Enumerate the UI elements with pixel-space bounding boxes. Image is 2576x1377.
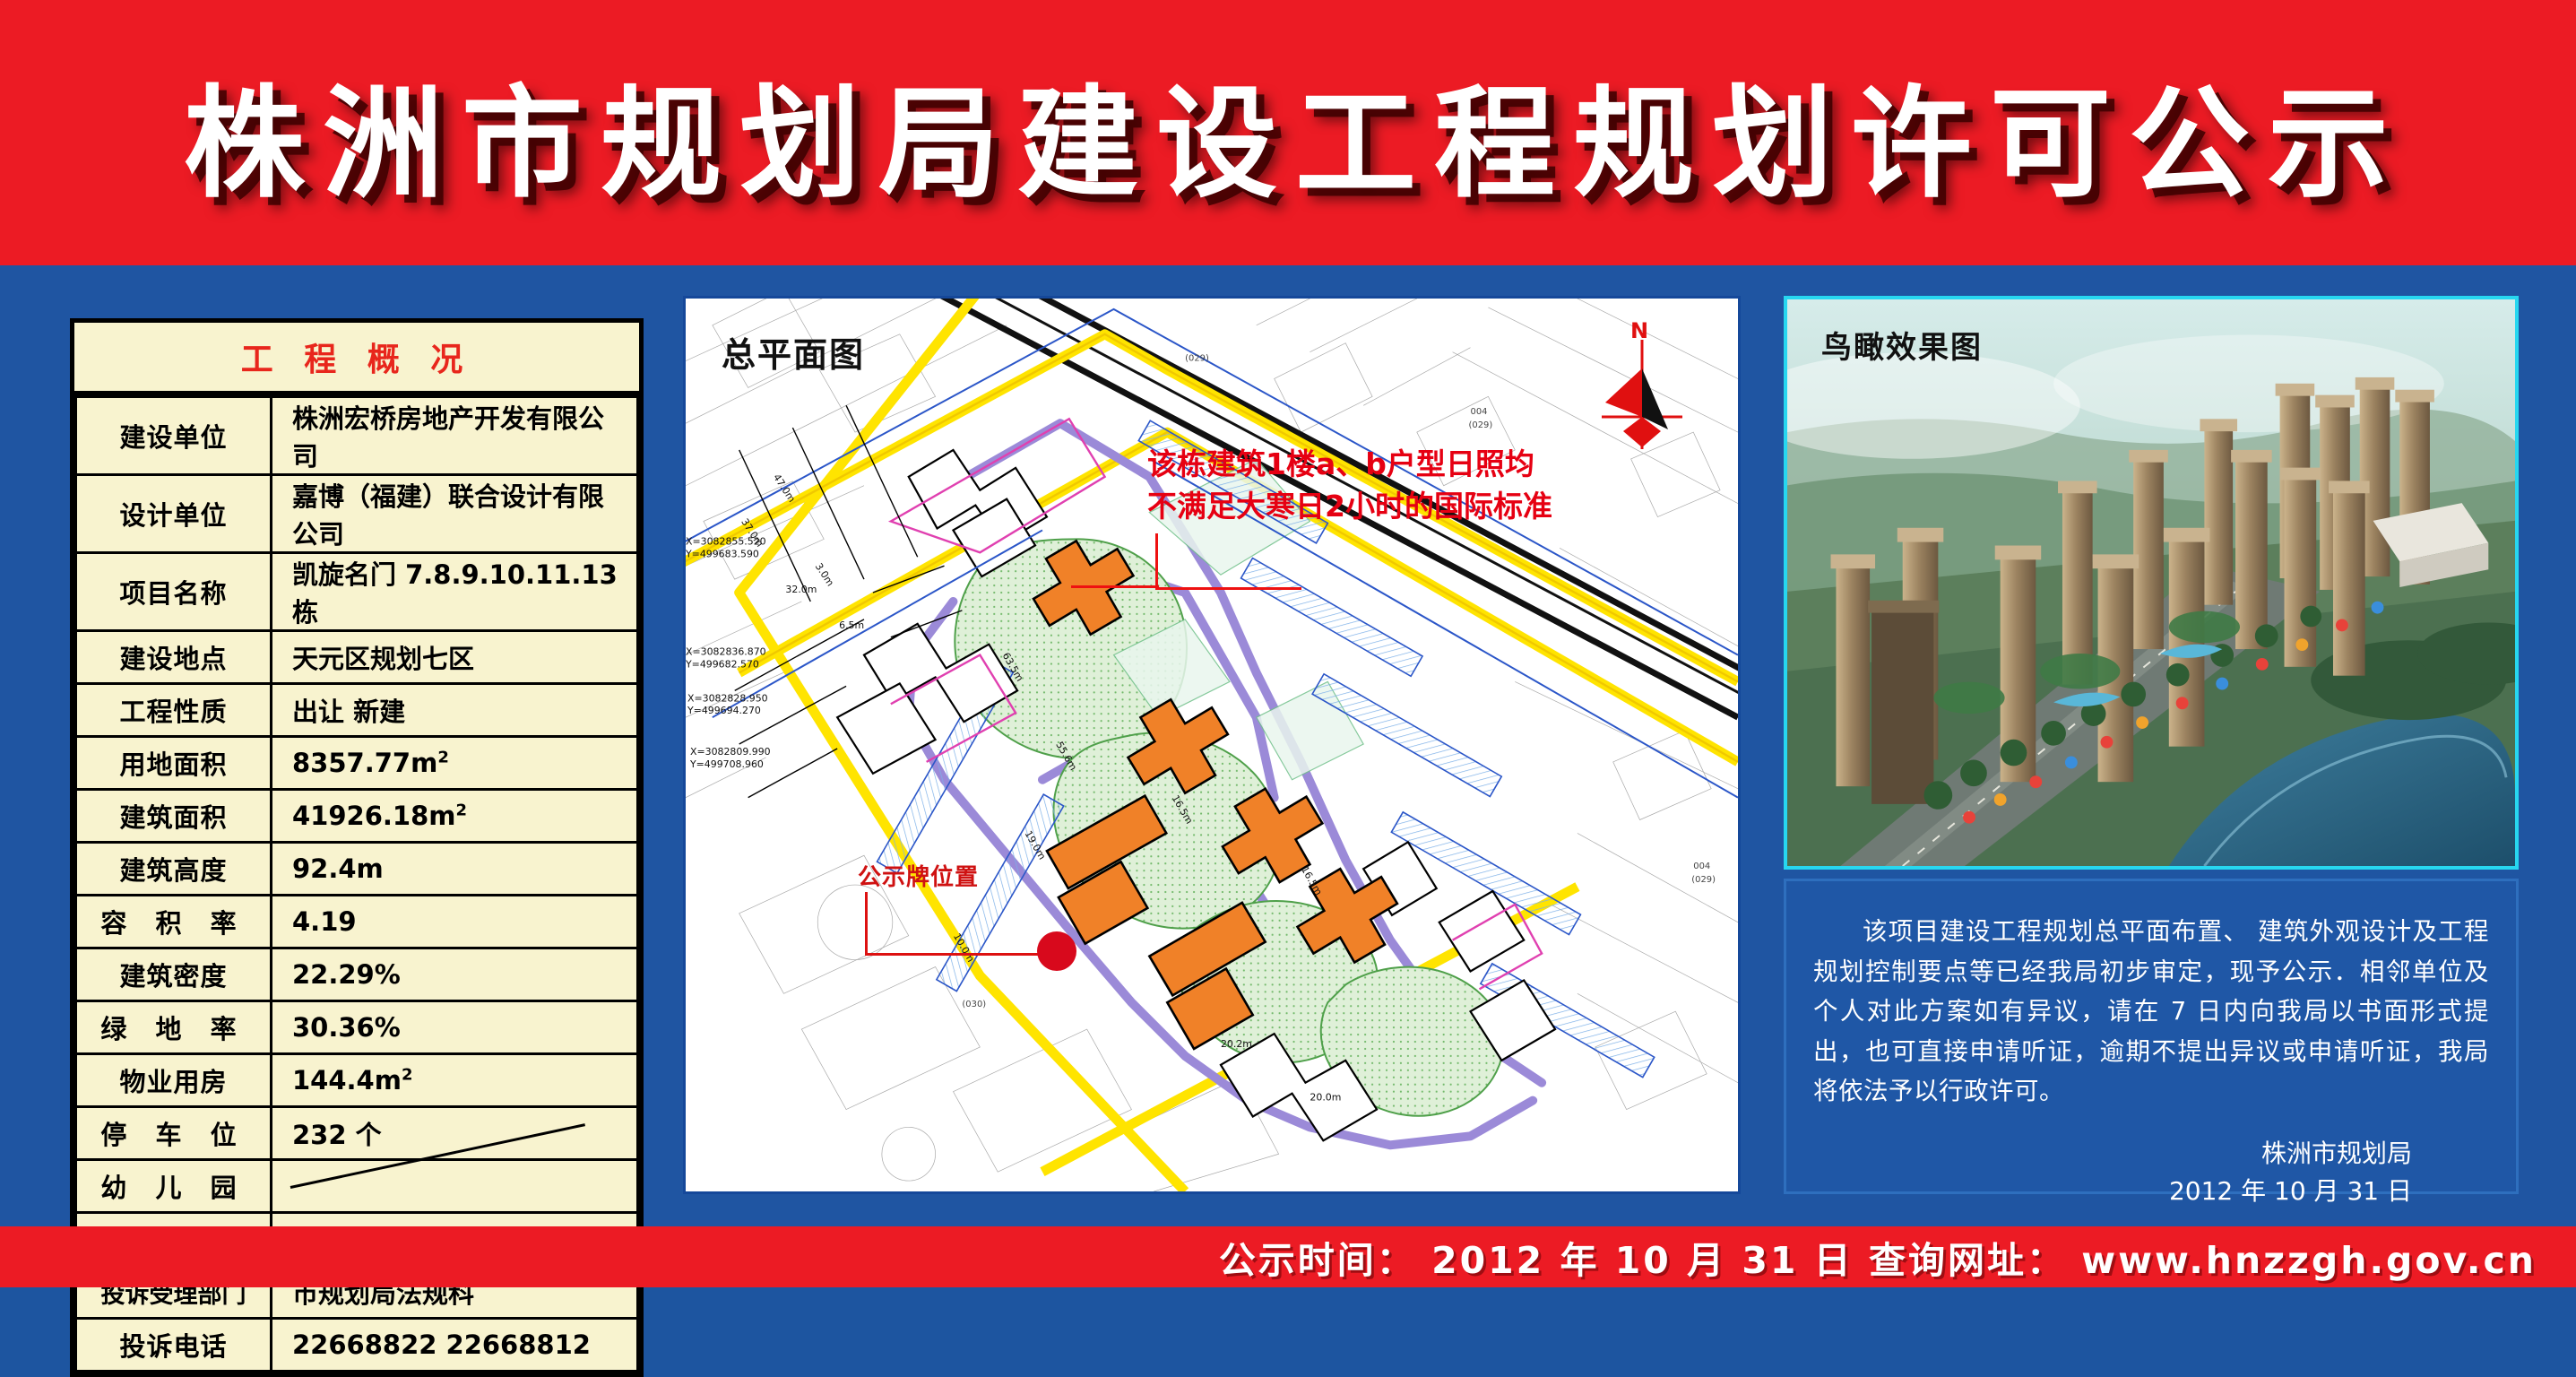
svg-text:X=3082809.990: X=3082809.990 (690, 746, 771, 758)
info-row-label: 幼 儿 园 (76, 1160, 272, 1213)
table-row: 工程性质出让 新建 (76, 684, 638, 737)
table-row: 建设地点天元区规划七区 (76, 631, 638, 684)
info-row-value: 41926.18m2 (272, 790, 638, 843)
info-row-value-text: 株洲宏桥房地产开发有限公司 (292, 403, 604, 472)
info-row-value: 天元区规划七区 (272, 631, 638, 684)
unit-superscript: 2 (455, 801, 467, 819)
public-notice-signature-block: 株洲市规划局 2012 年 10 月 31 日 (1813, 1135, 2489, 1210)
svg-text:6.5m: 6.5m (839, 619, 864, 631)
table-row: 项目名称凯旋名门 7.8.9.10.11.13 栋 (76, 553, 638, 631)
info-row-label: 建筑密度 (76, 948, 272, 1001)
header-banner: 株洲市规划局建设工程规划许可公示 (0, 0, 2576, 265)
info-row-value: 22.29% (272, 948, 638, 1001)
sign-location-label: 公示牌位置 (858, 859, 979, 892)
table-row: 容 积 率4.19 (76, 896, 638, 948)
info-row-value-text: 30.36% (292, 1012, 401, 1043)
info-row-label: 建筑高度 (76, 843, 272, 896)
project-summary-title: 工 程 概 况 (241, 333, 473, 380)
info-row-label: 物业用房 (76, 1054, 272, 1107)
table-row: 物业用房144.4m2 (76, 1054, 638, 1107)
table-row: 建筑密度22.29% (76, 948, 638, 1001)
info-row-value: 4.19 (272, 896, 638, 948)
sunlight-warning-note: 该栋建筑1楼a、b户型日照均 不满足大寒日2小时的国际标准 (1147, 444, 1552, 528)
svg-text:(029): (029) (1469, 420, 1493, 430)
site-plan-label: 总平面图 (722, 327, 865, 377)
aerial-rendering-label: 鸟瞰效果图 (1821, 323, 1983, 367)
info-row-label: 停 车 位 (76, 1107, 272, 1160)
info-row-value-text: 天元区规划七区 (292, 644, 474, 674)
aerial-rendering-image (1787, 299, 2515, 866)
info-row-label: 设计单位 (76, 475, 272, 553)
site-plan-panel[interactable]: 47.0m 37.0m 3.0m 32.0m 6.5m 63.5m 55.6m … (683, 296, 1741, 1194)
svg-text:004: 004 (1693, 862, 1710, 871)
table-row: 停 车 位232 个 (76, 1107, 638, 1160)
info-row-label: 建筑面积 (76, 790, 272, 843)
info-row-value-text: 144.4m (292, 1065, 402, 1096)
info-row-value-text: 41926.18m (292, 801, 455, 831)
table-row: 幼 儿 园 (76, 1160, 638, 1213)
sunlight-warning-line1: 该栋建筑1楼a、b户型日照均 (1147, 444, 1552, 486)
warning-leader-line-2 (1071, 585, 1159, 588)
north-arrow-icon: N (1593, 316, 1691, 451)
info-row-value: 30.36% (272, 1001, 638, 1054)
sunlight-warning-line2: 不满足大寒日2小时的国际标准 (1147, 486, 1552, 528)
svg-text:X=3082836.870: X=3082836.870 (686, 646, 766, 658)
svg-text:Y=499682.570: Y=499682.570 (686, 659, 759, 671)
svg-text:20.2m: 20.2m (1221, 1038, 1252, 1050)
unit-superscript: 2 (437, 748, 449, 766)
svg-text:Y=499708.960: Y=499708.960 (689, 758, 764, 770)
table-row: 建筑面积41926.18m2 (76, 790, 638, 843)
svg-text:32.0m: 32.0m (785, 584, 817, 595)
info-row-value-text: 22668822 22668812 (292, 1329, 591, 1360)
notice-date: 2012 年 10 月 31 日 (1813, 1173, 2412, 1210)
info-row-value: 22668822 22668812 (272, 1319, 638, 1372)
info-row-value-text: 232 个 (292, 1120, 382, 1150)
info-row-value: 144.4m2 (272, 1054, 638, 1107)
table-row: 设计单位嘉博（福建）联合设计有限公司 (76, 475, 638, 553)
info-row-value: 8357.77m2 (272, 737, 638, 790)
sign-leader-vertical (865, 892, 868, 955)
svg-text:(030): (030) (962, 1000, 986, 1009)
info-row-value: 嘉博（福建）联合设计有限公司 (272, 475, 638, 553)
info-row-label: 项目名称 (76, 553, 272, 631)
project-summary-title-row: 工 程 概 况 (74, 323, 639, 395)
info-row-label: 用地面积 (76, 737, 272, 790)
svg-text:(029): (029) (1185, 354, 1209, 364)
info-row-value-text: 凯旋名门 7.8.9.10.11.13 栋 (292, 559, 618, 628)
page-title: 株洲市规划局建设工程规划许可公示 (169, 45, 2407, 221)
info-row-label: 建设单位 (76, 397, 272, 475)
svg-text:X=3082855.520: X=3082855.520 (686, 535, 766, 547)
info-row-value-text: 出让 新建 (292, 697, 405, 727)
info-row-value-text: 4.19 (292, 906, 357, 937)
footer-banner: 公示时间： 2012 年 10 月 31 日 查询网址： www.hnzzgh.… (0, 1226, 2576, 1287)
svg-text:004: 004 (1471, 407, 1488, 417)
sign-leader-horizontal (865, 953, 1044, 956)
info-row-label: 绿 地 率 (76, 1001, 272, 1054)
info-row-value: 出让 新建 (272, 684, 638, 737)
info-row-value-text: 22.29% (292, 959, 401, 990)
project-summary-panel: 工 程 概 况 建设单位株洲宏桥房地产开发有限公司设计单位嘉博（福建）联合设计有… (70, 318, 644, 1377)
info-row-value-text: 嘉博（福建）联合设计有限公司 (292, 481, 604, 550)
info-row-value: 株洲宏桥房地产开发有限公司 (272, 397, 638, 475)
aerial-rendering-panel[interactable]: 鸟瞰效果图 (1784, 296, 2519, 870)
warning-leader-line (1155, 533, 1301, 590)
footer-text: 公示时间： 2012 年 10 月 31 日 查询网址： www.hnzzgh.… (1219, 1230, 2537, 1284)
info-row-label: 容 积 率 (76, 896, 272, 948)
svg-text:20.0m: 20.0m (1310, 1092, 1341, 1104)
svg-text:X=3082828.950: X=3082828.950 (687, 692, 768, 704)
unit-superscript: 2 (402, 1065, 413, 1084)
svg-text:N: N (1630, 318, 1648, 343)
table-row: 用地面积8357.77m2 (76, 737, 638, 790)
site-plan-drawing: 47.0m 37.0m 3.0m 32.0m 6.5m 63.5m 55.6m … (686, 299, 1738, 1191)
info-row-value: 92.4m (272, 843, 638, 896)
info-row-value: 凯旋名门 7.8.9.10.11.13 栋 (272, 553, 638, 631)
table-row: 绿 地 率30.36% (76, 1001, 638, 1054)
info-row-value-text: 92.4m (292, 853, 384, 884)
table-row: 建设单位株洲宏桥房地产开发有限公司 (76, 397, 638, 475)
public-notice-panel: 该项目建设工程规划总平面布置、 建筑外观设计及工程规划控制要点等已经我局初步审定… (1784, 879, 2519, 1194)
info-row-label: 工程性质 (76, 684, 272, 737)
svg-text:(029): (029) (1691, 875, 1716, 885)
public-notice-body: 该项目建设工程规划总平面布置、 建筑外观设计及工程规划控制要点等已经我局初步审定… (1813, 912, 2489, 1112)
info-row-value (272, 1160, 638, 1213)
table-row: 建筑高度92.4m (76, 843, 638, 896)
table-row: 投诉电话22668822 22668812 (76, 1319, 638, 1372)
issuing-authority: 株洲市规划局 (1813, 1135, 2412, 1173)
svg-text:Y=499683.590: Y=499683.590 (686, 548, 759, 559)
info-row-label: 投诉电话 (76, 1319, 272, 1372)
info-row-label: 建设地点 (76, 631, 272, 684)
notice-board: 株洲市规划局建设工程规划许可公示 工 程 概 况 建设单位株洲宏桥房地产开发有限… (0, 0, 2576, 1287)
svg-text:Y=499694.270: Y=499694.270 (687, 705, 761, 716)
info-row-value-text: 8357.77m (292, 748, 437, 778)
sign-location-marker (1037, 931, 1076, 971)
